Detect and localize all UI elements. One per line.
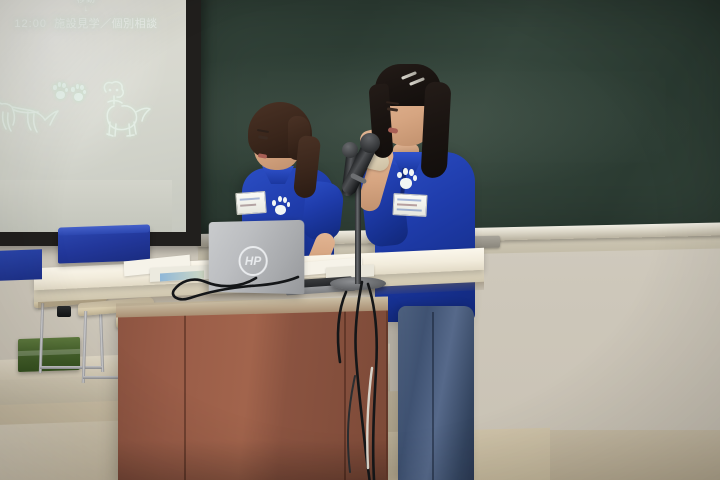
- slide-activity: 施設見学／個別相談: [54, 18, 158, 30]
- badge-text-line-2: [397, 203, 417, 206]
- badge-text-line-2: [240, 204, 256, 207]
- presenter-left-name-badge: [235, 191, 266, 215]
- presenter-right-name-badge: [392, 193, 427, 217]
- audio-cables: [100, 258, 430, 480]
- slide-down-arrow-icon: ↓: [0, 4, 186, 13]
- cable-connector: [57, 306, 71, 317]
- jeans-seam: [432, 312, 434, 480]
- dog-illustration-left: [0, 90, 60, 142]
- badge-text-line-1: [397, 198, 421, 201]
- classroom-presentation-photo: 移動 ↓ 12:00 施設見学／個別相談: [0, 0, 720, 480]
- blue-case-secondary: [0, 249, 42, 280]
- paw-print-left-icon: [52, 82, 68, 100]
- paw-print-logo-icon: [272, 196, 290, 216]
- badge-text-line-3: [397, 208, 422, 211]
- slide-line-schedule: 12:00 施設見学／個別相談: [0, 15, 186, 31]
- projection-screen-surface: 移動 ↓ 12:00 施設見学／個別相談: [0, 0, 186, 232]
- paw-print-right-icon: [70, 84, 86, 102]
- badge-text-line-1: [240, 197, 260, 200]
- slide-time: 12:00: [14, 18, 47, 30]
- dog-illustration-right: [88, 78, 156, 146]
- paw-print-logo-icon: [397, 168, 417, 190]
- presenter-right-hair-side-right: [421, 81, 452, 178]
